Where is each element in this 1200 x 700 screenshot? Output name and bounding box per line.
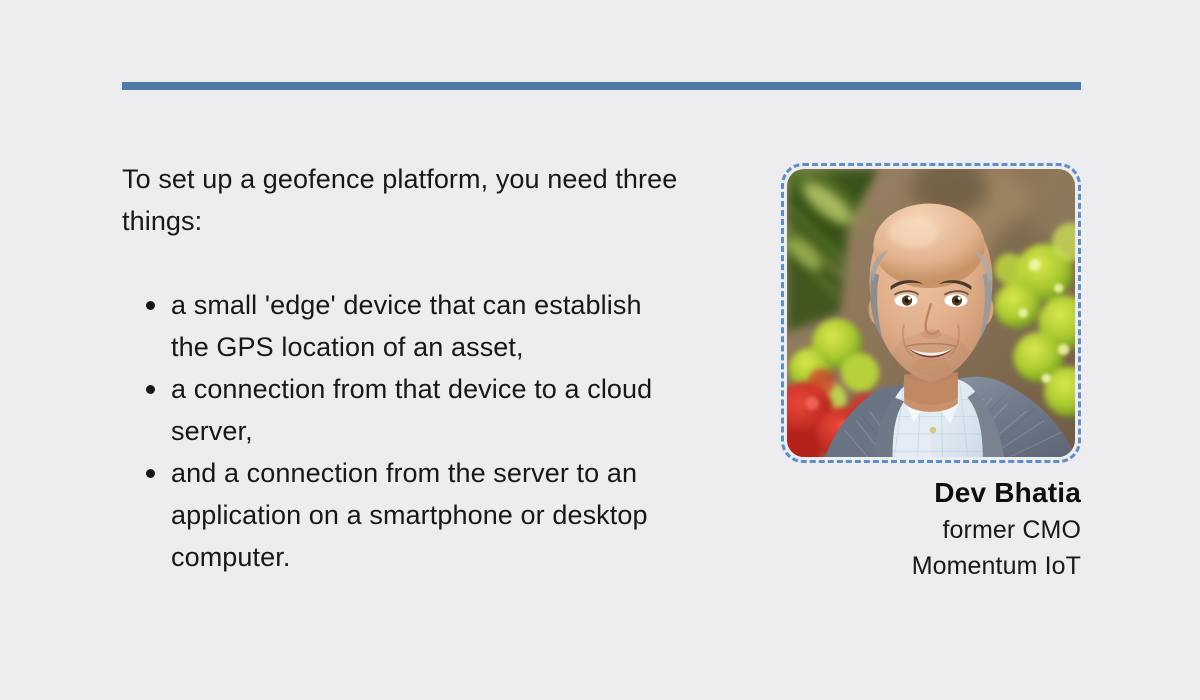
top-accent-rule (122, 82, 1081, 90)
list-item-text: and a connection from the server to an a… (171, 458, 648, 572)
list-item: a connection from that device to a cloud… (122, 368, 682, 452)
list-item-text: a connection from that device to a cloud… (171, 374, 652, 446)
person-company: Momentum IoT (681, 548, 1081, 584)
bullet-dot-icon (146, 385, 155, 394)
person-role: former CMO (681, 512, 1081, 548)
text-column: To set up a geofence platform, you need … (122, 158, 682, 578)
list-item-text: a small 'edge' device that can establish… (171, 290, 642, 362)
attribution-block: Dev Bhatia former CMO Momentum IoT (681, 474, 1081, 584)
portrait-photo (787, 169, 1075, 457)
list-item: and a connection from the server to an a… (122, 452, 682, 578)
bullet-dot-icon (146, 469, 155, 478)
portrait-card (781, 163, 1081, 463)
intro-paragraph: To set up a geofence platform, you need … (122, 158, 682, 242)
list-item: a small 'edge' device that can establish… (122, 284, 682, 368)
portrait-illustration (787, 169, 1075, 457)
slide-canvas: To set up a geofence platform, you need … (0, 0, 1200, 700)
requirements-list: a small 'edge' device that can establish… (122, 284, 682, 578)
bullet-dot-icon (146, 301, 155, 310)
person-name: Dev Bhatia (681, 474, 1081, 512)
